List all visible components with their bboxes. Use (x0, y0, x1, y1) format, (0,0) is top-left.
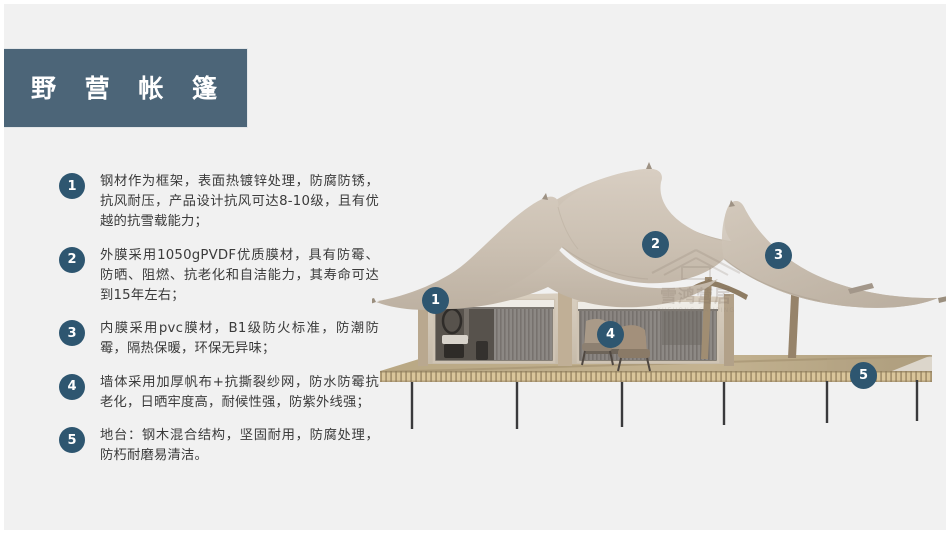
feature-text-5: 地台：钢木混合结构，坚固耐用，防腐处理，防朽耐磨易清洁。 (100, 426, 379, 466)
deck-platform (380, 355, 932, 429)
deck-legs (412, 380, 917, 429)
list-item: 1 钢材作为框架，表面热镀锌处理，防腐防锈，抗风耐压，产品设计抗风可达8-10级… (59, 172, 379, 233)
feature-list: 1 钢材作为框架，表面热镀锌处理，防腐防锈，抗风耐压，产品设计抗风可达8-10级… (59, 172, 379, 466)
feature-badge-2: 2 (59, 247, 85, 273)
feature-text-2: 外膜采用1050gPVDF优质膜材，具有防霉、防晒、阻燃、抗老化和自洁能力，其寿… (100, 246, 379, 307)
list-item: 5 地台：钢木混合结构，坚固耐用，防腐处理，防朽耐磨易清洁。 (59, 426, 379, 466)
window-left (434, 300, 554, 362)
feature-badge-1: 1 (59, 173, 85, 199)
tent-marker-3[interactable]: 3 (765, 242, 792, 269)
list-item: 3 内膜采用pvc膜材，B1级防火标准，防潮防霉，隔热保暖，环保无异味； (59, 319, 379, 359)
list-item: 4 墙体采用加厚帆布+抗撕裂纱网，防水防霉抗老化，日晒牢度高，耐候性强，防紫外线… (59, 373, 379, 413)
feature-badge-3: 3 (59, 320, 85, 346)
feature-badge-5: 5 (59, 427, 85, 453)
tent-marker-2[interactable]: 2 (642, 231, 669, 258)
feature-text-1: 钢材作为框架，表面热镀锌处理，防腐防锈，抗风耐压，产品设计抗风可达8-10级，且… (100, 172, 379, 233)
page-title: 野 营 帐 篷 (21, 76, 227, 101)
tent-illustration (372, 159, 950, 469)
slide-page: 野 营 帐 篷 1 钢材作为框架，表面热镀锌处理，防腐防锈，抗风耐压，产品设计抗… (0, 0, 950, 534)
feature-badge-4: 4 (59, 374, 85, 400)
tent-photo: 雪鸿营居 XUEHONG CAMPING 1 2 3 4 5 (372, 159, 950, 469)
tent-marker-5[interactable]: 5 (850, 362, 877, 389)
title-banner: 野 营 帐 篷 (0, 48, 248, 128)
feature-text-3: 内膜采用pvc膜材，B1级防火标准，防潮防霉，隔热保暖，环保无异味； (100, 319, 379, 359)
tent-marker-1[interactable]: 1 (422, 287, 449, 314)
list-item: 2 外膜采用1050gPVDF优质膜材，具有防霉、防晒、阻燃、抗老化和自洁能力，… (59, 246, 379, 307)
feature-text-4: 墙体采用加厚帆布+抗撕裂纱网，防水防霉抗老化，日晒牢度高，耐候性强，防紫外线强； (100, 373, 379, 413)
tent-marker-4[interactable]: 4 (597, 321, 624, 348)
